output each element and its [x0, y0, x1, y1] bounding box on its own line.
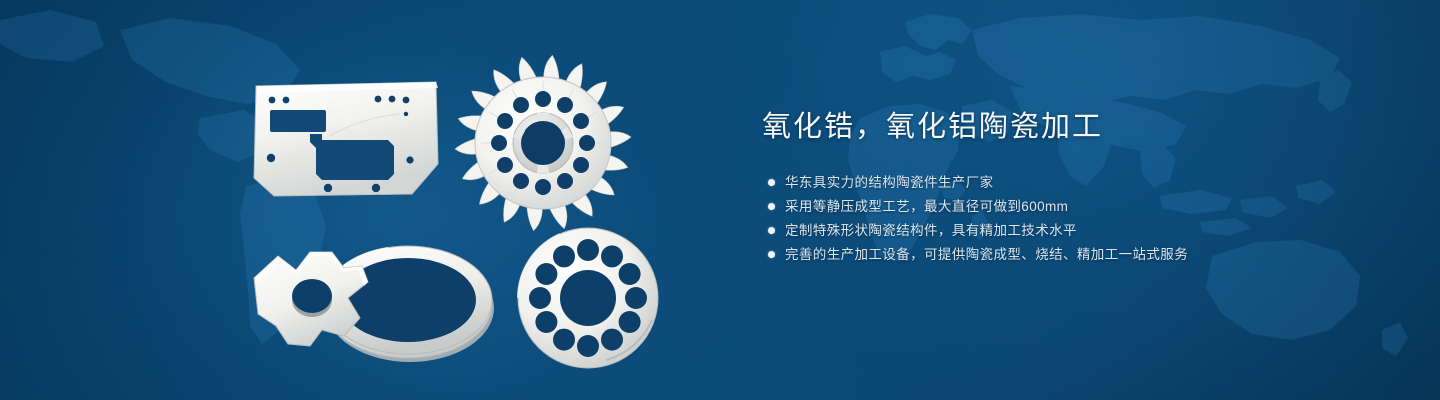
feature-item-1-label: 华东具实力的结构陶瓷件生产厂家: [785, 174, 994, 191]
feature-item-2-label: 采用等静压成型工艺，最大直径可做到600mm: [785, 198, 1068, 215]
ceramic-perforated-ring-disc: [508, 222, 668, 374]
feature-item-3: 定制特殊形状陶瓷结构件，具有精加工技术水平: [762, 222, 1402, 239]
feature-item-3-label: 定制特殊形状陶瓷结构件，具有精加工技术水平: [785, 222, 1077, 239]
promo-banner: 氧化锆，氧化铝陶瓷加工 华东具实力的结构陶瓷件生产厂家 采用等静压成型工艺，最大…: [0, 0, 1440, 400]
banner-feature-list: 华东具实力的结构陶瓷件生产厂家 采用等静压成型工艺，最大直径可做到600mm 定…: [762, 174, 1402, 263]
product-image-group: [0, 0, 760, 400]
feature-item-4-label: 完善的生产加工设备，可提供陶瓷成型、烧结、精加工一站式服务: [785, 246, 1188, 263]
bullet-dot-icon: [768, 179, 775, 186]
bullet-dot-icon: [768, 251, 775, 258]
feature-item-1: 华东具实力的结构陶瓷件生产厂家: [762, 174, 1402, 191]
banner-title: 氧化锆，氧化铝陶瓷加工: [762, 108, 1402, 146]
feature-item-2: 采用等静压成型工艺，最大直径可做到600mm: [762, 198, 1402, 215]
ceramic-mounting-plate: [250, 78, 442, 200]
ceramic-star-plate-and-rings: [248, 222, 506, 372]
feature-item-4: 完善的生产加工设备，可提供陶瓷成型、烧结、精加工一站式服务: [762, 246, 1402, 263]
ceramic-impeller-rotor: [448, 48, 638, 238]
banner-text-block: 氧化锆，氧化铝陶瓷加工 华东具实力的结构陶瓷件生产厂家 采用等静压成型工艺，最大…: [762, 108, 1402, 270]
bullet-dot-icon: [768, 227, 775, 234]
bullet-dot-icon: [768, 203, 775, 210]
